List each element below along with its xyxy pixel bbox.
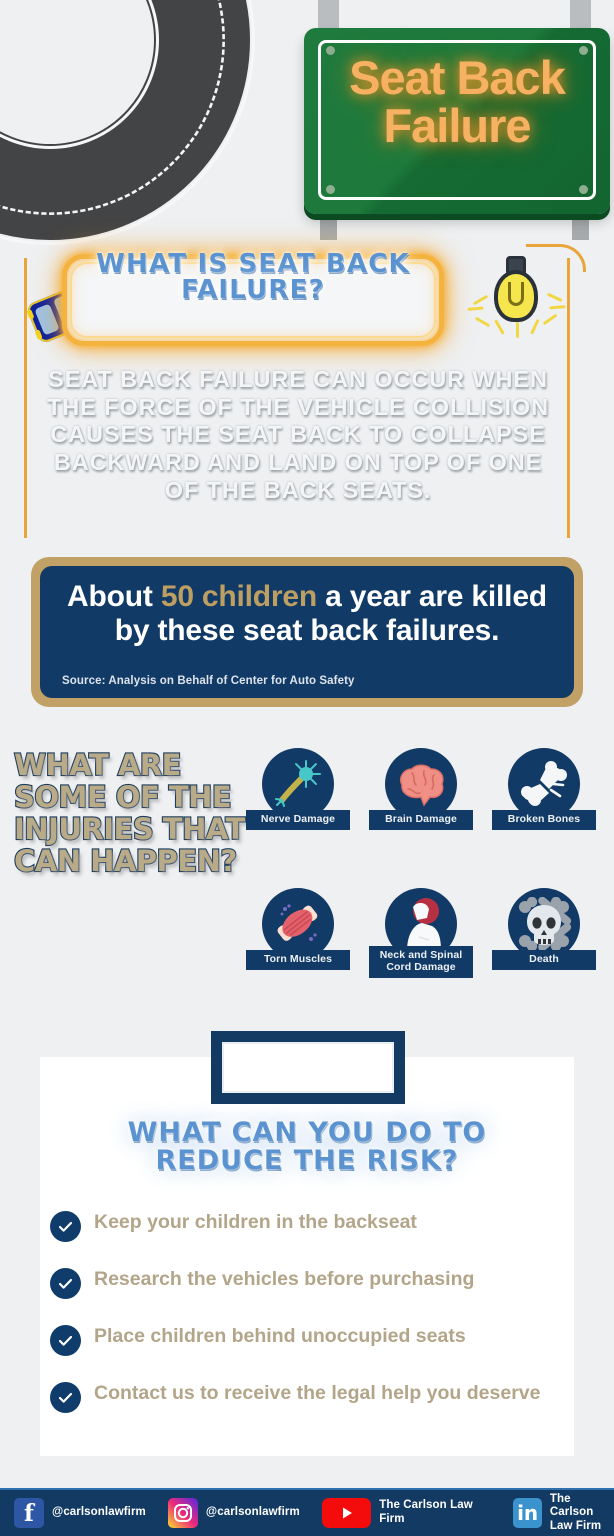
injuries-grid: Nerve Damage Brain Damage	[246, 742, 606, 992]
infographic-page: Seat Back Failure WHAT IS SEAT BACK FAIL…	[0, 0, 614, 1536]
injury-label: Nerve Damage	[246, 810, 350, 830]
injury-item: Brain Damage	[369, 748, 473, 856]
definition-title-line-1: WHAT IS SEAT BACK	[62, 251, 444, 277]
check-icon	[50, 1382, 81, 1413]
list-item-label: Contact us to receive the legal help you…	[94, 1380, 564, 1404]
list-item: Contact us to receive the legal help you…	[46, 1380, 564, 1426]
injury-label: Neck and Spinal Cord Damage	[369, 946, 473, 978]
check-icon	[50, 1268, 81, 1299]
statistic-highlight: 50 children	[161, 580, 317, 613]
social-link-youtube[interactable]: The Carlson Law Firm	[322, 1498, 496, 1528]
injury-item: Broken Bones	[492, 748, 596, 856]
navy-outline-box	[211, 1031, 405, 1104]
list-item-label: Research the vehicles before purchasing	[94, 1266, 564, 1290]
sign-title: Seat Back Failure	[304, 54, 610, 150]
social-link-facebook[interactable]: f @carlsonlawfirm	[14, 1498, 146, 1528]
facebook-icon[interactable]: f	[14, 1498, 44, 1528]
list-item-label: Place children behind unoccupied seats	[94, 1323, 564, 1347]
risk-title-line-2: REDUCE THE RISK?	[40, 1147, 574, 1175]
instagram-handle: @carlsonlawfirm	[206, 1506, 300, 1520]
instagram-icon[interactable]	[168, 1498, 198, 1528]
injury-item: Death	[492, 888, 596, 996]
sign-post-cap-right	[570, 0, 591, 28]
injury-item: Torn Muscles	[246, 888, 350, 996]
check-icon	[50, 1211, 81, 1242]
sign-title-line-2: Failure	[304, 102, 610, 150]
risk-card: WHAT CAN YOU DO TO REDUCE THE RISK? Keep…	[40, 1057, 574, 1456]
check-icon	[50, 1325, 81, 1356]
injuries-heading: WHAT ARE SOME OF THE INJURIES THAT CAN H…	[14, 750, 254, 878]
social-link-linkedin[interactable]: in The Carlson Law Firm	[513, 1493, 614, 1534]
linkedin-icon[interactable]: in	[513, 1498, 541, 1528]
list-item-label: Keep your children in the backseat	[94, 1209, 564, 1233]
injury-label: Torn Muscles	[246, 950, 350, 970]
facebook-handle: @carlsonlawfirm	[52, 1506, 146, 1520]
social-link-instagram[interactable]: @carlsonlawfirm	[168, 1498, 300, 1528]
youtube-icon[interactable]	[322, 1498, 371, 1528]
injury-item: Nerve Damage	[246, 748, 350, 856]
risk-title-line-1: WHAT CAN YOU DO TO	[40, 1119, 574, 1147]
highway-sign: Seat Back Failure	[300, 0, 614, 240]
hero-section: Seat Back Failure	[0, 0, 614, 240]
statistic-prefix: About	[67, 580, 161, 613]
injury-label: Brain Damage	[369, 810, 473, 830]
risk-checklist: Keep your children in the backseat Resea…	[46, 1209, 564, 1437]
linkedin-handle: The Carlson Law Firm	[550, 1493, 614, 1534]
list-item: Research the vehicles before purchasing	[46, 1266, 564, 1312]
winding-road-icon	[0, 0, 280, 240]
risk-title: WHAT CAN YOU DO TO REDUCE THE RISK?	[40, 1119, 574, 1176]
list-item: Place children behind unoccupied seats	[46, 1323, 564, 1369]
injury-label: Broken Bones	[492, 810, 596, 830]
youtube-handle: The Carlson Law Firm	[379, 1499, 495, 1526]
injury-item: Neck and Spinal Cord Damage	[369, 888, 473, 996]
lightbulb-icon	[470, 244, 566, 352]
definition-title: WHAT IS SEAT BACK FAILURE?	[62, 251, 444, 303]
social-footer: f @carlsonlawfirm @carlsonlawfirm The Ca…	[0, 1488, 614, 1536]
sign-post-cap-left	[318, 0, 339, 28]
definition-title-line-2: FAILURE?	[62, 277, 444, 303]
injuries-section: WHAT ARE SOME OF THE INJURIES THAT CAN H…	[0, 740, 614, 1000]
list-item: Keep your children in the backseat	[46, 1209, 564, 1255]
sign-board: Seat Back Failure	[304, 28, 610, 214]
injury-label: Death	[492, 950, 596, 970]
statistic-box: About 50 children a year are killed by t…	[31, 557, 583, 707]
statistic-source: Source: Analysis on Behalf of Center for…	[62, 675, 355, 687]
definition-body: SEAT BACK FAILURE CAN OCCUR WHEN THE FOR…	[34, 366, 562, 505]
statistic-text: About 50 children a year are killed by t…	[54, 580, 560, 648]
sign-title-line-1: Seat Back	[304, 54, 610, 102]
